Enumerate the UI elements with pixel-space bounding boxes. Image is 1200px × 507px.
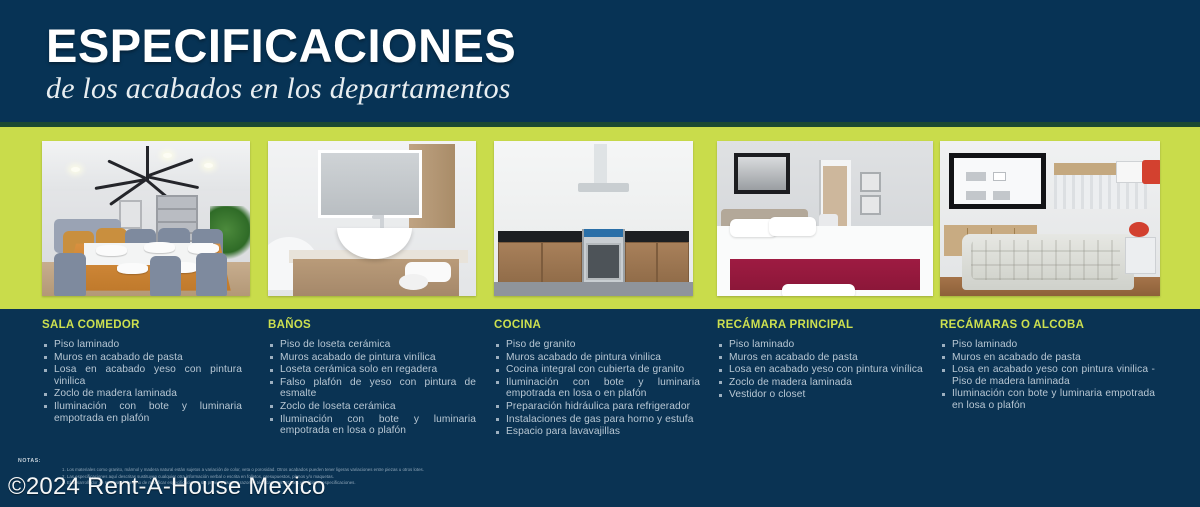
list-item: Iluminación con bote y luminaria empotra…: [268, 414, 476, 437]
spec-list: Piso laminado Muros en acabado de pasta …: [717, 339, 927, 401]
list-item: Espacio para lavavajillas: [494, 426, 700, 438]
list-item: Muros en acabado de pasta: [42, 352, 242, 364]
copyright-watermark: ©2024 Rent-A-House Mexico: [8, 473, 326, 501]
list-item: Piso de granito: [494, 339, 700, 351]
spec-column-cocina: COCINA Piso de granito Muros acabado de …: [494, 319, 700, 439]
spec-column-sala-comedor: SALA COMEDOR Piso laminado Muros en acab…: [42, 319, 242, 425]
list-item: Muros acabado de pintura vinilica: [494, 352, 700, 364]
photo-dining-room: [42, 141, 250, 296]
list-item: Vestidor o closet: [717, 389, 927, 401]
column-heading: COCINA: [494, 319, 700, 331]
column-heading: RECÁMARA PRINCIPAL: [717, 319, 927, 331]
column-heading: RECÁMARAS O ALCOBA: [940, 319, 1155, 331]
list-item: Muros en acabado de pasta: [717, 352, 927, 364]
list-item: Piso laminado: [940, 339, 1155, 351]
spec-list: Piso de granito Muros acabado de pintura…: [494, 339, 700, 438]
spec-list: Piso laminado Muros en acabado de pasta …: [42, 339, 242, 424]
list-item: Losa en acabado yeso con pintura vinilic…: [940, 364, 1155, 387]
column-heading: BAÑOS: [268, 319, 476, 331]
photo-secondary-bedroom: [940, 141, 1160, 296]
list-item: Piso laminado: [717, 339, 927, 351]
spec-column-recamara-principal: RECÁMARA PRINCIPAL Piso laminado Muros e…: [717, 319, 927, 402]
header-text-block: ESPECIFICACIONES de los acabados en los …: [46, 22, 516, 105]
photo-kitchen: [494, 141, 693, 296]
spec-column-recamaras-o-alcoba: RECÁMARAS O ALCOBA Piso laminado Muros e…: [940, 319, 1155, 413]
column-heading: SALA COMEDOR: [42, 319, 242, 331]
list-item: Iluminación con bote y luminaria empotra…: [494, 377, 700, 400]
list-item: Muros en acabado de pasta: [940, 352, 1155, 364]
list-item: Muros acabado de pintura vinílica: [268, 352, 476, 364]
list-item: Preparación hidráulica para refrigerador: [494, 401, 700, 413]
spec-column-banos: BAÑOS Piso de loseta cerámica Muros acab…: [268, 319, 476, 438]
list-item: Zoclo de madera laminada: [717, 377, 927, 389]
list-item: Losa en acabado yeso con pintura vinilic…: [42, 364, 242, 387]
photo-bathroom: [268, 141, 476, 296]
spec-list: Piso de loseta cerámica Muros acabado de…: [268, 339, 476, 437]
list-item: Iluminación con bote y luminaria empotra…: [940, 388, 1155, 411]
notes-title: NOTAS:: [18, 458, 1178, 464]
photo-strip: [0, 127, 1200, 309]
header-banner: ESPECIFICACIONES de los acabados en los …: [0, 0, 1200, 122]
list-item: Zoclo de madera laminada: [42, 388, 242, 400]
photo-master-bedroom: [717, 141, 933, 296]
list-item: Iluminación con bote y luminaria empotra…: [42, 401, 242, 424]
spec-list: Piso laminado Muros en acabado de pasta …: [940, 339, 1155, 412]
specifications-slide: ESPECIFICACIONES de los acabados en los …: [0, 0, 1200, 507]
list-item: Cocina integral con cubierta de granito: [494, 364, 700, 376]
list-item: Falso plafón de yeso con pintura de esma…: [268, 377, 476, 400]
list-item: Piso de loseta cerámica: [268, 339, 476, 351]
page-subtitle: de los acabados en los departamentos: [46, 73, 516, 105]
list-item: Zoclo de loseta cerámica: [268, 401, 476, 413]
list-item: Instalaciones de gas para horno y estufa: [494, 414, 700, 426]
list-item: Piso laminado: [42, 339, 242, 351]
page-title: ESPECIFICACIONES: [46, 22, 516, 69]
list-item: Loseta cerámica solo en regadera: [268, 364, 476, 376]
list-item: Losa en acabado yeso con pintura vinílic…: [717, 364, 927, 376]
